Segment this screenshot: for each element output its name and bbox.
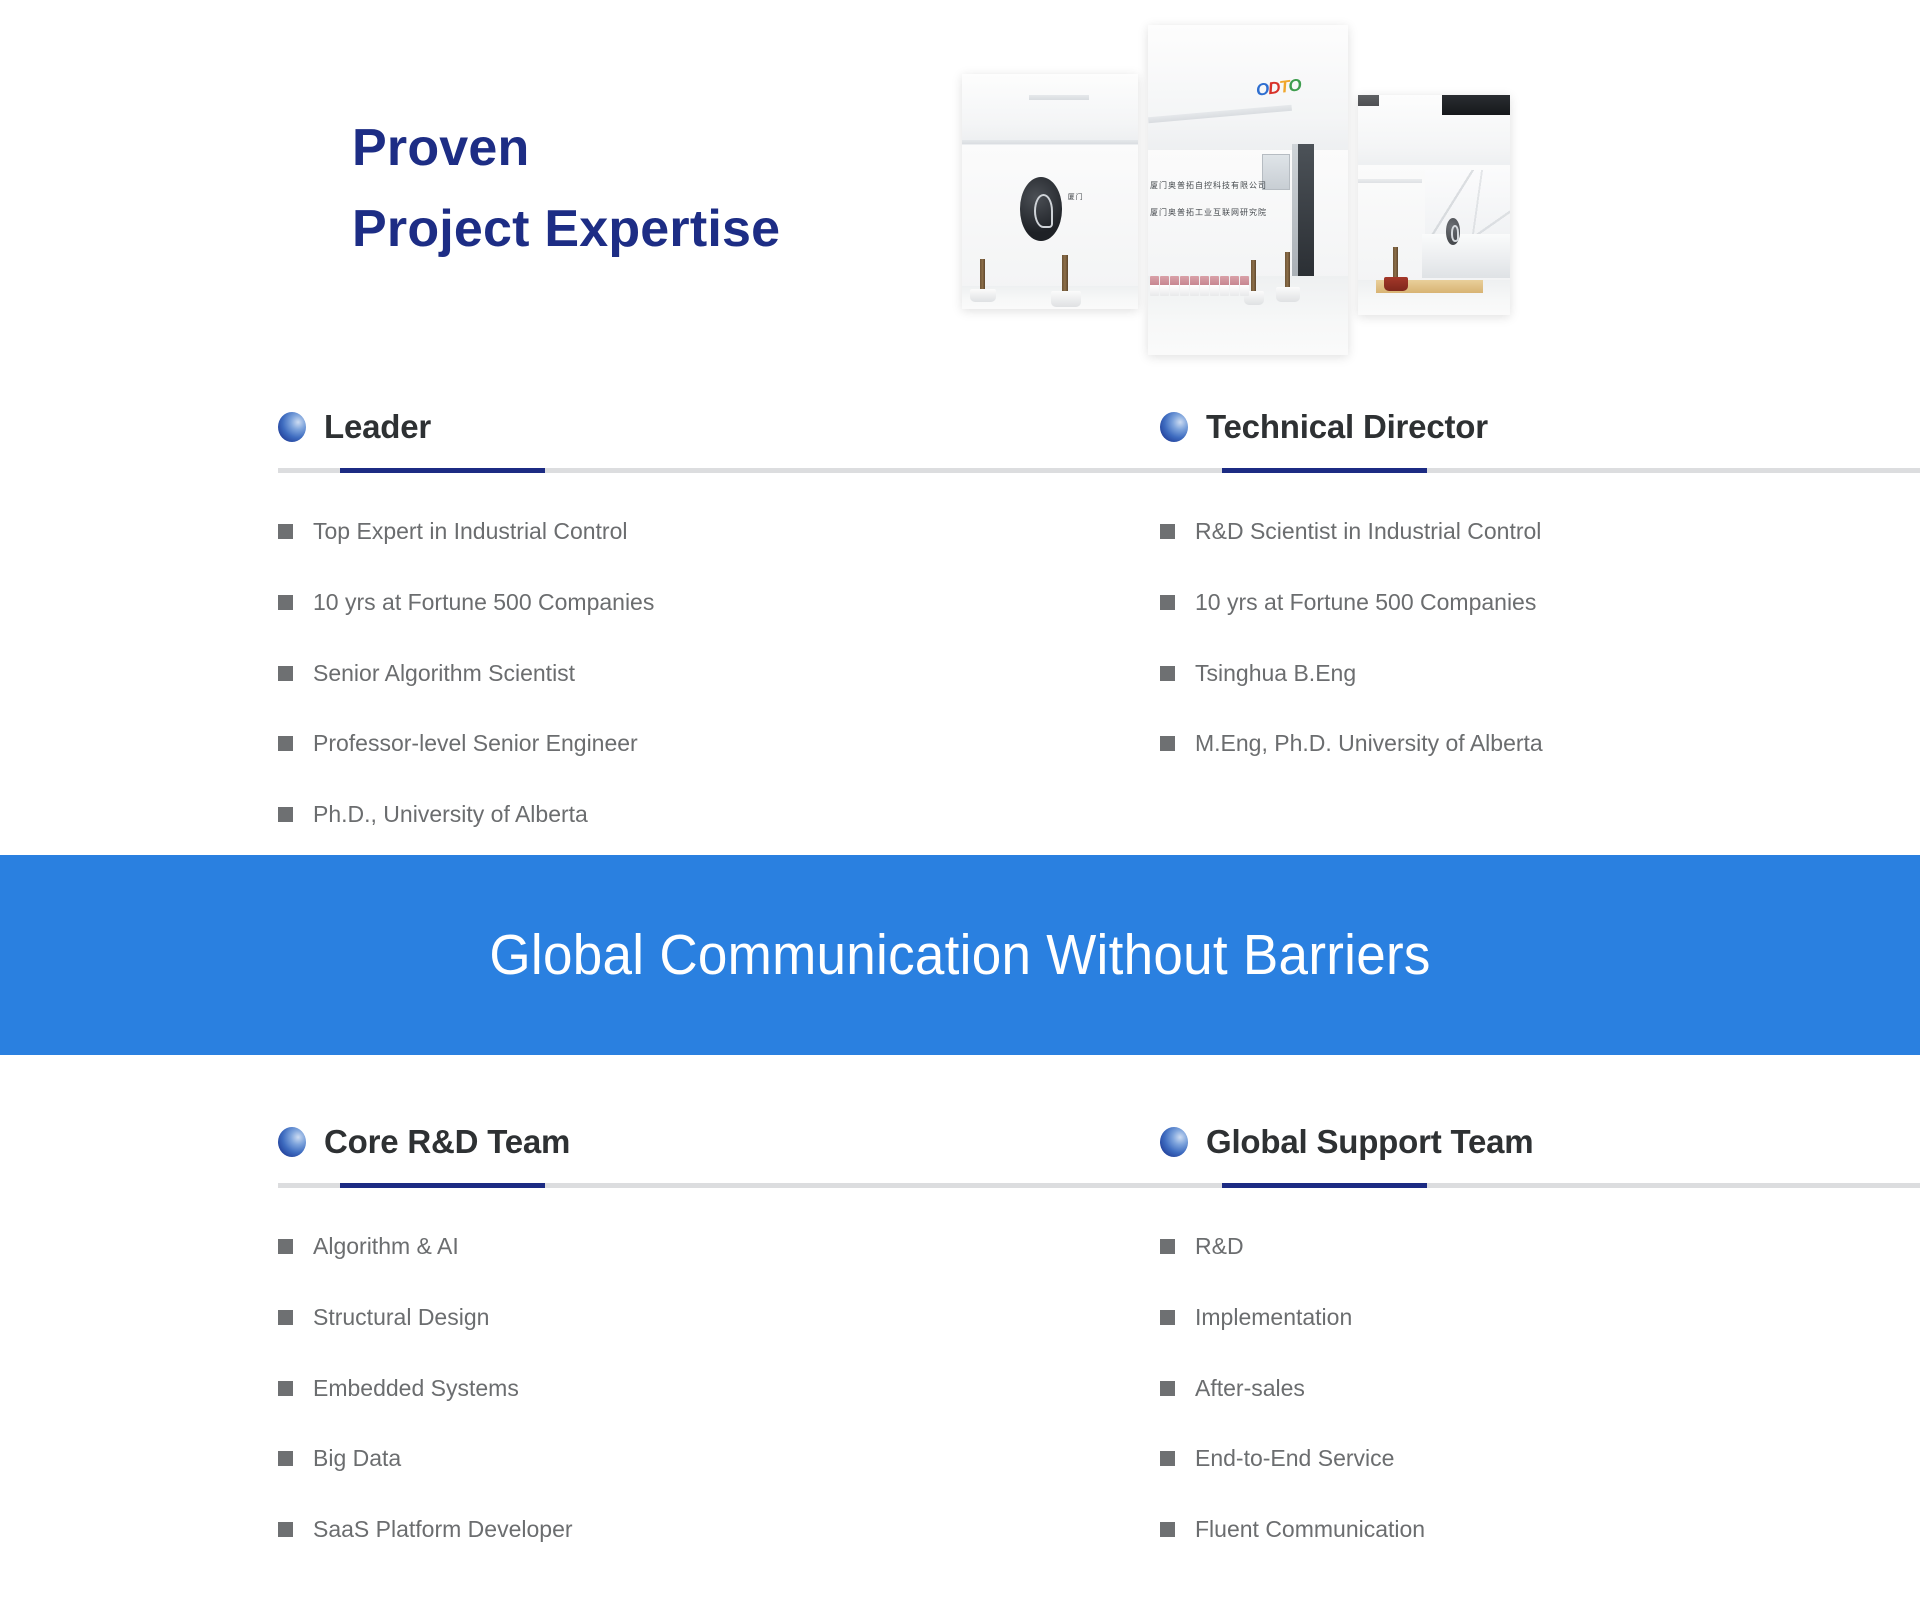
square-bullet-icon: [278, 524, 293, 539]
technical-director-divider: [1160, 468, 1920, 473]
technical-director-section: Technical Director R&D Scientist in Indu…: [1160, 400, 1860, 829]
list-item: Algorithm & AI: [278, 1232, 978, 1261]
list-item: After-sales: [1160, 1374, 1860, 1403]
leader-list: Top Expert in Industrial Control 10 yrs …: [278, 517, 978, 829]
technical-director-heading: Technical Director: [1160, 400, 1860, 454]
banner-title: Global Communication Without Barriers: [489, 922, 1430, 988]
square-bullet-icon: [278, 1451, 293, 1466]
list-item-label: Senior Algorithm Scientist: [313, 659, 575, 688]
technical-director-list: R&D Scientist in Industrial Control 10 y…: [1160, 517, 1860, 758]
list-item-label: M.Eng, Ph.D. University of Alberta: [1195, 729, 1543, 758]
sphere-bullet-icon: [1160, 1127, 1188, 1157]
list-item-label: After-sales: [1195, 1374, 1305, 1403]
technical-director-title: Technical Director: [1206, 408, 1488, 446]
list-item-label: Implementation: [1195, 1303, 1352, 1332]
leader-heading: Leader: [278, 400, 978, 454]
sphere-bullet-icon: [278, 412, 306, 442]
marketing-page: Proven Project Expertise 厦门: [0, 0, 1920, 1600]
core-rd-team-section: Core R&D Team Algorithm & AI Structural …: [278, 1115, 978, 1544]
list-item-label: 10 yrs at Fortune 500 Companies: [313, 588, 654, 617]
square-bullet-icon: [1160, 595, 1175, 610]
list-item: 10 yrs at Fortune 500 Companies: [1160, 588, 1860, 617]
core-rd-team-heading: Core R&D Team: [278, 1115, 978, 1169]
list-item-label: End-to-End Service: [1195, 1444, 1394, 1473]
list-item-label: R&D Scientist in Industrial Control: [1195, 517, 1541, 546]
square-bullet-icon: [278, 736, 293, 751]
office-photo-collage: 厦门 ODTO: [958, 22, 1518, 362]
list-item-label: Algorithm & AI: [313, 1232, 459, 1261]
list-item: R&D: [1160, 1232, 1860, 1261]
list-item-label: Big Data: [313, 1444, 401, 1473]
sphere-bullet-icon: [1160, 412, 1188, 442]
square-bullet-icon: [278, 807, 293, 822]
global-support-team-list: R&D Implementation After-sales End-to-En…: [1160, 1232, 1860, 1544]
global-support-team-divider: [1160, 1183, 1920, 1188]
square-bullet-icon: [1160, 524, 1175, 539]
global-communication-banner: Global Communication Without Barriers: [0, 855, 1920, 1055]
list-item-label: Professor-level Senior Engineer: [313, 729, 638, 758]
list-item-label: Ph.D., University of Alberta: [313, 800, 588, 829]
list-item: Big Data: [278, 1444, 978, 1473]
square-bullet-icon: [1160, 1381, 1175, 1396]
square-bullet-icon: [1160, 1451, 1175, 1466]
list-item-label: Structural Design: [313, 1303, 489, 1332]
list-item: Implementation: [1160, 1303, 1860, 1332]
list-item-label: SaaS Platform Developer: [313, 1515, 573, 1544]
team-columns: Core R&D Team Algorithm & AI Structural …: [0, 1115, 1920, 1544]
reception-desk: [1422, 234, 1510, 278]
list-item: M.Eng, Ph.D. University of Alberta: [1160, 729, 1860, 758]
list-item: 10 yrs at Fortune 500 Companies: [278, 588, 978, 617]
hero-title-line-1: Proven: [352, 108, 972, 189]
list-item-label: Tsinghua B.Eng: [1195, 659, 1356, 688]
signage-line-1: 厦门奥普拓自控科技有限公司: [1150, 180, 1267, 191]
global-support-team-title: Global Support Team: [1206, 1123, 1533, 1161]
list-item: Embedded Systems: [278, 1374, 978, 1403]
global-support-team-heading: Global Support Team: [1160, 1115, 1860, 1169]
square-bullet-icon: [278, 1310, 293, 1325]
top-section: Proven Project Expertise 厦门: [0, 0, 1920, 855]
square-bullet-icon: [1160, 666, 1175, 681]
office-wall-logo-photo: 厦门: [962, 74, 1138, 309]
square-bullet-icon: [278, 666, 293, 681]
list-item: Senior Algorithm Scientist: [278, 659, 978, 688]
reception-desk-photo: [1358, 95, 1510, 315]
square-bullet-icon: [278, 595, 293, 610]
square-bullet-icon: [1160, 736, 1175, 751]
list-item: Professor-level Senior Engineer: [278, 729, 978, 758]
square-bullet-icon: [278, 1381, 293, 1396]
list-item-label: Embedded Systems: [313, 1374, 519, 1403]
square-bullet-icon: [1160, 1239, 1175, 1254]
square-bullet-icon: [1160, 1310, 1175, 1325]
square-bullet-icon: [278, 1239, 293, 1254]
leadership-columns: Leader Top Expert in Industrial Control …: [0, 400, 1920, 829]
company-signage-photo: ODTO 厦门奥普拓自控科技有限公司 厦门奥普拓工业互联网研究院: [1148, 25, 1348, 355]
list-item: Structural Design: [278, 1303, 978, 1332]
core-rd-team-title: Core R&D Team: [324, 1123, 570, 1161]
list-item-label: R&D: [1195, 1232, 1244, 1261]
square-bullet-icon: [278, 1522, 293, 1537]
list-item: Tsinghua B.Eng: [1160, 659, 1860, 688]
leader-title: Leader: [324, 408, 431, 446]
list-item: Top Expert in Industrial Control: [278, 517, 978, 546]
list-item: SaaS Platform Developer: [278, 1515, 978, 1544]
list-item: Fluent Communication: [1160, 1515, 1860, 1544]
potted-flower-row: [1150, 276, 1249, 296]
list-item: R&D Scientist in Industrial Control: [1160, 517, 1860, 546]
leader-section: Leader Top Expert in Industrial Control …: [278, 400, 978, 829]
list-item: Ph.D., University of Alberta: [278, 800, 978, 829]
list-item-label: Fluent Communication: [1195, 1515, 1425, 1544]
hero-title-line-2: Project Expertise: [352, 189, 972, 270]
page-title: Proven Project Expertise: [352, 108, 972, 269]
list-item-label: Top Expert in Industrial Control: [313, 517, 628, 546]
list-item: End-to-End Service: [1160, 1444, 1860, 1473]
square-bullet-icon: [1160, 1522, 1175, 1537]
sphere-bullet-icon: [278, 1127, 306, 1157]
list-item-label: 10 yrs at Fortune 500 Companies: [1195, 588, 1536, 617]
global-support-team-section: Global Support Team R&D Implementation A…: [1160, 1115, 1860, 1544]
core-rd-team-list: Algorithm & AI Structural Design Embedde…: [278, 1232, 978, 1544]
